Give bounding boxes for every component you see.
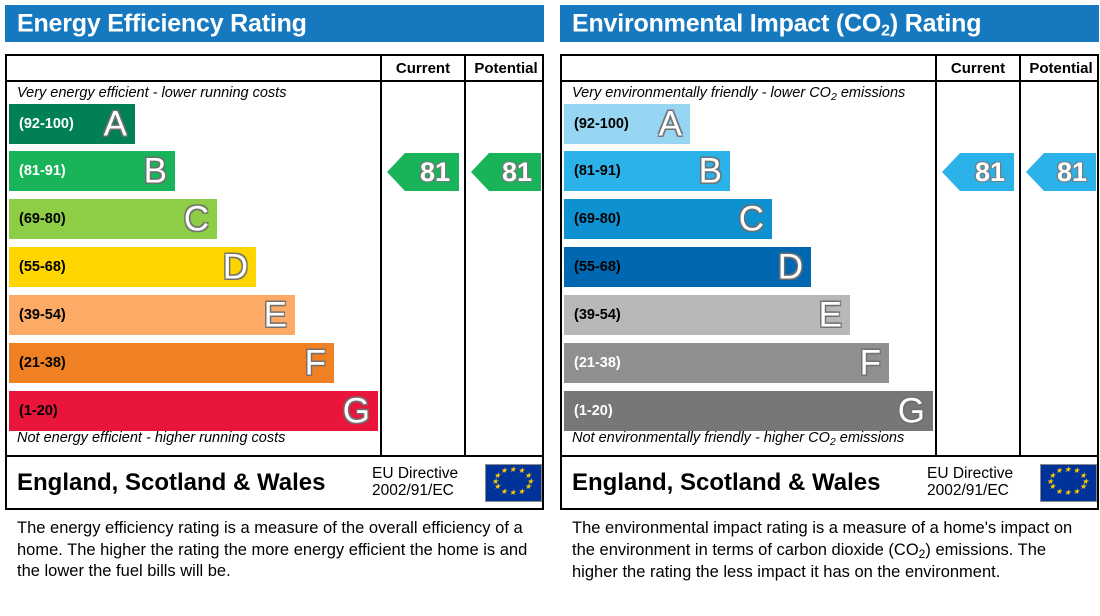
band-range-a: (92-100) [19, 116, 74, 132]
directive-line-1: EU Directive [372, 465, 458, 482]
current-rating-value: 81 [420, 159, 459, 186]
band-letter-e: E [819, 298, 842, 333]
column-header-potential: Potential [466, 56, 546, 82]
current-rating-arrow: 81 [942, 153, 1014, 191]
band-letter-d: D [778, 250, 803, 285]
band-letter-a: A [659, 107, 682, 142]
band-bar-e: (39-54) E [564, 295, 850, 335]
band-bar-a: (92-100) A [9, 104, 135, 144]
band-range-g: (1-20) [574, 403, 613, 419]
band-range-c: (69-80) [574, 211, 621, 227]
band-range-e: (39-54) [19, 307, 66, 323]
environmental-impact-panel: Environmental Impact (CO2) Rating Curren… [555, 0, 1100, 616]
directive-line-2: 2002/91/EC [372, 483, 454, 500]
band-letter-c: C [184, 202, 209, 237]
band-range-e: (39-54) [574, 307, 621, 323]
band-range-d: (55-68) [19, 259, 66, 275]
band-letter-g: G [898, 394, 925, 429]
panel-title-bar: Environmental Impact (CO2) Rating [560, 5, 1099, 42]
footer-region-label: England, Scotland & Wales [572, 469, 880, 497]
note-bottom-post: emissions [836, 430, 905, 446]
band-range-d: (55-68) [574, 259, 621, 275]
band-bar-b: (81-91) B [564, 151, 730, 191]
band-range-f: (21-38) [19, 355, 66, 371]
potential-rating-value: 81 [502, 159, 541, 186]
column-header-current: Current [937, 56, 1019, 82]
band-range-b: (81-91) [574, 163, 621, 179]
current-rating-arrow: 81 [387, 153, 459, 191]
band-range-b: (81-91) [19, 163, 66, 179]
band-bar-f: (21-38) F [564, 343, 889, 383]
footer-directive-label: EU Directive 2002/91/EC [927, 465, 1013, 501]
current-rating-value: 81 [975, 159, 1014, 186]
note-top-post: emissions [837, 85, 906, 101]
page-title-suffix: ) Rating [890, 9, 981, 37]
band-bar-a: (92-100) A [564, 104, 690, 144]
band-bar-g: (1-20) G [9, 391, 378, 431]
band-bar-f: (21-38) F [9, 343, 334, 383]
panel-caption: The energy efficiency rating is a measur… [17, 518, 537, 583]
column-header-current: Current [382, 56, 464, 82]
band-letter-e: E [264, 298, 287, 333]
table-header-row: Current Potential [562, 56, 1097, 82]
band-range-f: (21-38) [574, 355, 621, 371]
chart-note-bottom: Not energy efficient - higher running co… [17, 430, 285, 446]
column-divider-1 [935, 56, 937, 455]
band-bar-c: (69-80) C [9, 199, 217, 239]
column-header-potential: Potential [1021, 56, 1100, 82]
band-chart: Very energy efficient - lower running co… [7, 82, 378, 455]
eu-flag-icon [485, 464, 542, 502]
panel-caption: The environmental impact rating is a mea… [572, 518, 1092, 584]
panel-footer: England, Scotland & Wales EU Directive 2… [562, 455, 1097, 508]
column-divider-2 [464, 56, 466, 455]
column-divider-2 [1019, 56, 1021, 455]
band-bar-b: (81-91) B [9, 151, 175, 191]
eu-flag-icon [1040, 464, 1097, 502]
page-title: Environmental Impact (CO2) Rating [572, 9, 981, 38]
page-title: Energy Efficiency Rating [17, 9, 307, 38]
band-chart: Very environmentally friendly - lower CO… [562, 82, 933, 455]
band-range-a: (92-100) [574, 116, 629, 132]
band-letter-b: B [144, 154, 167, 189]
panel-title-bar: Energy Efficiency Rating [5, 5, 544, 42]
rating-table: Current Potential Very environmentally f… [560, 54, 1099, 510]
directive-line-1: EU Directive [927, 465, 1013, 482]
directive-line-2: 2002/91/EC [927, 483, 1009, 500]
band-bar-e: (39-54) E [9, 295, 295, 335]
note-bottom-pre: Not environmentally friendly - higher CO [572, 430, 830, 446]
band-letter-g: G [343, 394, 370, 429]
chart-note-bottom: Not environmentally friendly - higher CO… [572, 430, 904, 446]
page-title-subscript: 2 [881, 22, 890, 39]
footer-directive-label: EU Directive 2002/91/EC [372, 465, 458, 501]
chart-note-top: Very environmentally friendly - lower CO… [572, 85, 905, 101]
band-letter-c: C [739, 202, 764, 237]
note-bottom-subscript: 2 [830, 436, 836, 448]
band-letter-f: F [860, 346, 881, 381]
potential-rating-arrow: 81 [471, 153, 541, 191]
energy-efficiency-panel: Energy Efficiency Rating Current Potenti… [0, 0, 545, 616]
rating-table: Current Potential Very energy efficient … [5, 54, 544, 510]
footer-region-label: England, Scotland & Wales [17, 469, 325, 497]
band-bar-d: (55-68) D [9, 247, 256, 287]
potential-rating-arrow: 81 [1026, 153, 1096, 191]
band-bar-g: (1-20) G [564, 391, 933, 431]
band-letter-b: B [699, 154, 722, 189]
band-letter-a: A [104, 107, 127, 142]
band-letter-d: D [223, 250, 248, 285]
note-top-subscript: 2 [831, 91, 837, 103]
band-letter-f: F [305, 346, 326, 381]
potential-rating-value: 81 [1057, 159, 1096, 186]
band-bar-d: (55-68) D [564, 247, 811, 287]
table-header-row: Current Potential [7, 56, 542, 82]
page-title-main: Environmental Impact (CO [572, 9, 881, 37]
band-bar-c: (69-80) C [564, 199, 772, 239]
column-divider-1 [380, 56, 382, 455]
caption-subscript: 2 [919, 547, 926, 561]
band-range-c: (69-80) [19, 211, 66, 227]
note-top-pre: Very environmentally friendly - lower CO [572, 85, 831, 101]
panel-footer: England, Scotland & Wales EU Directive 2… [7, 455, 542, 508]
chart-note-top: Very energy efficient - lower running co… [17, 85, 286, 101]
band-range-g: (1-20) [19, 403, 58, 419]
